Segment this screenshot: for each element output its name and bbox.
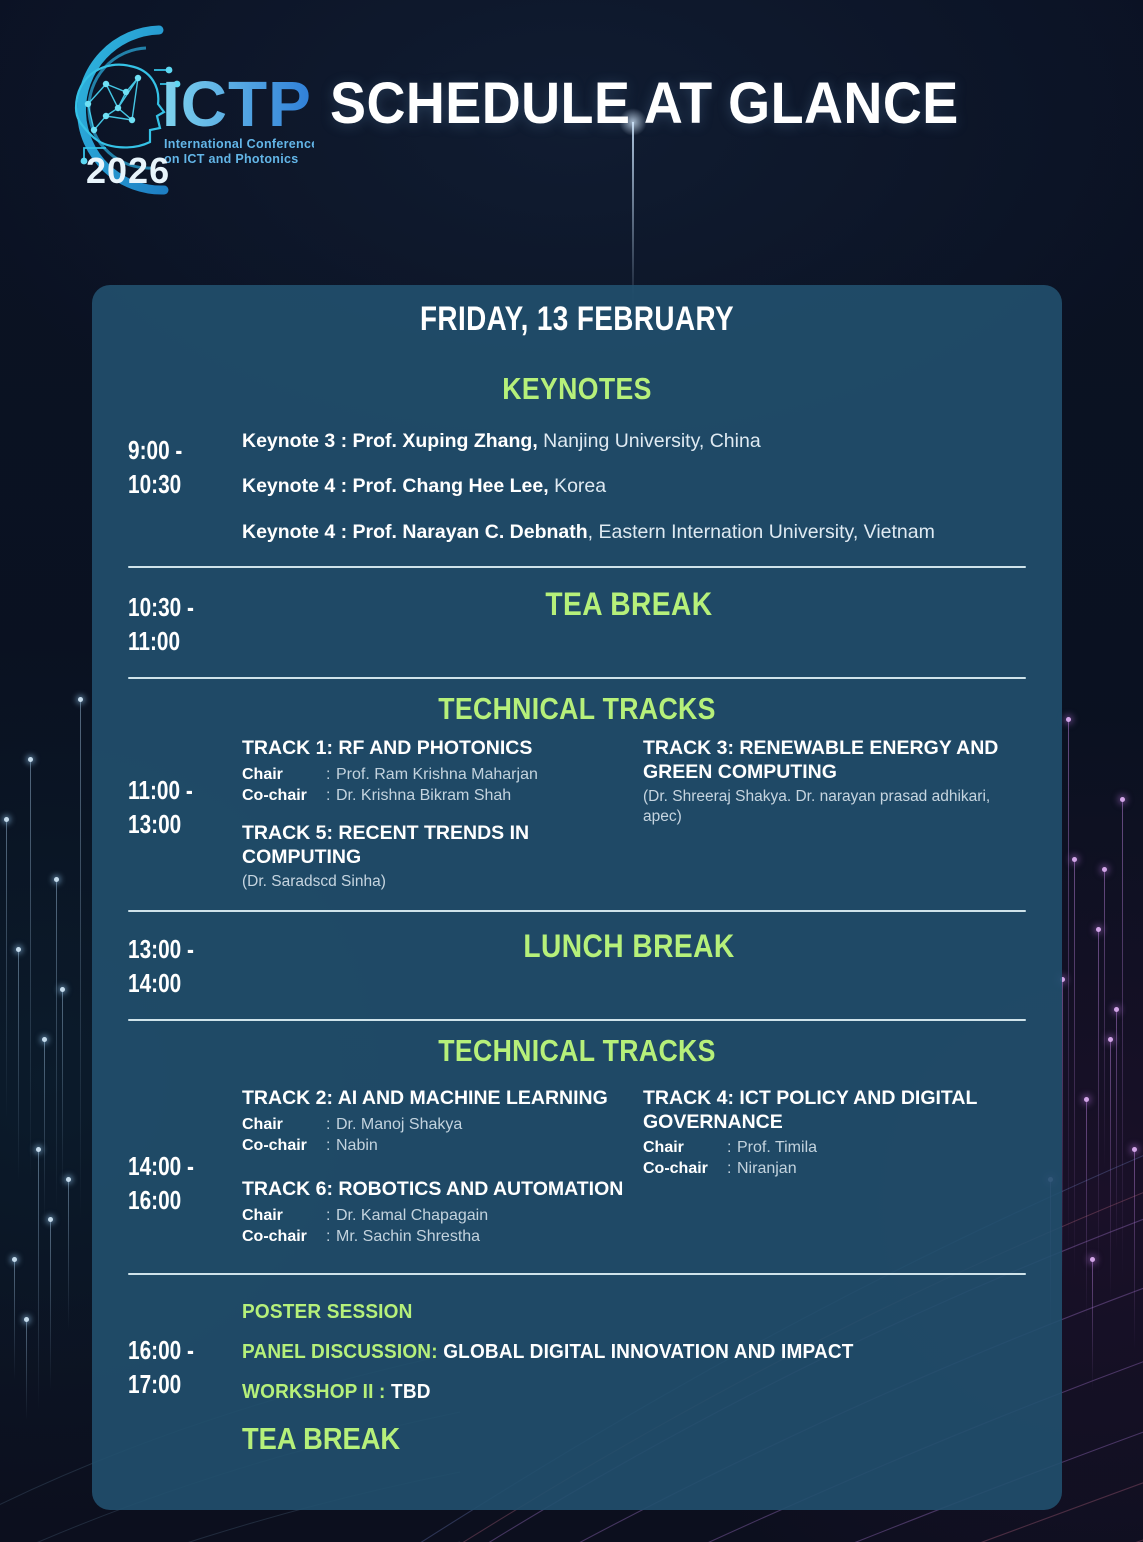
panel-discussion-line: PANEL DISCUSSION: GLOBAL DIGITAL INNOVAT… xyxy=(242,1341,987,1364)
cochair-value: Mr. Sachin Shrestha xyxy=(336,1226,480,1247)
day-title: FRIDAY, 13 FEBRUARY xyxy=(179,285,974,339)
page-header: ICTP International Conference on ICT and… xyxy=(0,0,1143,250)
cochair-line: Co-chair : Nabin xyxy=(242,1135,625,1156)
track-title: TRACK 4: ICT POLICY AND DIGITAL GOVERNAN… xyxy=(643,1087,1026,1135)
keynote-label: Keynote 4 : Prof. Chang Hee Lee, xyxy=(242,475,549,497)
schedule-card: FRIDAY, 13 FEBRUARY KEYNOTES 9:00 - 10:3… xyxy=(92,285,1062,1510)
cochair-line: Co-chair : Dr. Krishna Bikram Shah xyxy=(242,785,625,806)
chair-label: Chair xyxy=(242,1114,326,1135)
chair-label: Chair xyxy=(643,1137,727,1158)
svg-text:on ICT and Photonics: on ICT and Photonics xyxy=(164,152,298,166)
tea-break-row: 10:30 - 11:00 TEA BREAK xyxy=(92,586,1062,659)
svg-text:2026: 2026 xyxy=(86,150,170,191)
track-title: TRACK 1: RF AND PHOTONICS xyxy=(242,737,625,761)
keynote-label: Keynote 4 : Prof. Narayan C. Debnath xyxy=(242,521,588,543)
track-title: TRACK 6: ROBOTICS AND AUTOMATION xyxy=(242,1178,625,1202)
track-card: TRACK 1: RF AND PHOTONICS Chair : Prof. … xyxy=(242,737,625,806)
chair-line: Chair : Prof. Timila xyxy=(643,1137,1026,1158)
cochair-label: Co-chair xyxy=(242,785,326,806)
cochair-label: Co-chair xyxy=(643,1158,727,1179)
list-item: Keynote 4 : Prof. Narayan C. Debnath, Ea… xyxy=(242,520,1026,544)
track-card: TRACK 4: ICT POLICY AND DIGITAL GOVERNAN… xyxy=(643,1087,1026,1180)
chair-value: Prof. Timila xyxy=(737,1137,817,1158)
track-title: TRACK 2: AI AND MACHINE LEARNING xyxy=(242,1087,625,1111)
cochair-value: Nabin xyxy=(336,1135,378,1156)
technical-tracks-heading-2: TECHNICAL TRACKS xyxy=(160,1033,994,1069)
track-chairs: Chair : Dr. Kamal Chapagain Co-chair : M… xyxy=(242,1205,625,1247)
colon: : xyxy=(727,1158,737,1179)
keynotes-row: 9:00 - 10:30 Keynote 3 : Prof. Xuping Zh… xyxy=(92,429,1062,544)
keynote-affiliation: , Eastern Internation University, Vietna… xyxy=(588,521,935,543)
tracks-columns: TRACK 2: AI AND MACHINE LEARNING Chair :… xyxy=(232,1087,1026,1247)
divider xyxy=(128,910,1026,912)
track-note: (Dr. Shreeraj Shakya. Dr. narayan prasad… xyxy=(643,787,1026,827)
lunch-break-label: LUNCH BREAK xyxy=(280,928,979,965)
track-card: TRACK 2: AI AND MACHINE LEARNING Chair :… xyxy=(242,1087,625,1156)
colon: : xyxy=(326,764,336,785)
list-item: Keynote 3 : Prof. Xuping Zhang, Nanjing … xyxy=(242,429,1026,453)
cochair-line: Co-chair : Mr. Sachin Shrestha xyxy=(242,1226,625,1247)
keynotes-list: Keynote 3 : Prof. Xuping Zhang, Nanjing … xyxy=(232,429,1026,544)
chair-label: Chair xyxy=(242,764,326,785)
tracks-row-morning: 11:00 - 13:00 TRACK 1: RF AND PHOTONICS … xyxy=(92,737,1062,892)
cochair-label: Co-chair xyxy=(242,1226,326,1247)
tracks-left-column: TRACK 1: RF AND PHOTONICS Chair : Prof. … xyxy=(242,737,625,892)
lunch-break-row: 13:00 - 14:00 LUNCH BREAK xyxy=(92,928,1062,1001)
page-title: SCHEDULE AT GLANCE xyxy=(330,70,959,137)
keynote-label: Keynote 3 : Prof. Xuping Zhang, xyxy=(242,430,538,452)
chair-label: Chair xyxy=(242,1205,326,1226)
keynote-affiliation: Nanjing University, China xyxy=(538,430,761,452)
tracks-morning-time: 11:00 - 13:00 xyxy=(128,737,211,842)
tracks-row-afternoon: 14:00 - 16:00 TRACK 2: AI AND MACHINE LE… xyxy=(92,1087,1062,1247)
colon: : xyxy=(727,1137,737,1158)
list-item: Keynote 4 : Prof. Chang Hee Lee, Korea xyxy=(242,474,1026,498)
workshop-value: TBD xyxy=(386,1381,431,1403)
tea-break-time: 10:30 - 11:00 xyxy=(128,586,211,659)
chair-value: Dr. Kamal Chapagain xyxy=(336,1205,488,1226)
technical-tracks-heading-1: TECHNICAL TRACKS xyxy=(160,691,994,727)
closing-time: 16:00 - 17:00 xyxy=(128,1301,211,1402)
lunch-break-time: 13:00 - 14:00 xyxy=(128,928,211,1001)
divider xyxy=(128,566,1026,568)
track-card: TRACK 3: RENEWABLE ENERGY AND GREEN COMP… xyxy=(643,737,1026,827)
track-title: TRACK 3: RENEWABLE ENERGY AND GREEN COMP… xyxy=(643,737,1026,785)
tracks-right-column: TRACK 4: ICT POLICY AND DIGITAL GOVERNAN… xyxy=(643,1087,1026,1247)
cochair-value: Niranjan xyxy=(737,1158,797,1179)
tracks-right-column: TRACK 3: RENEWABLE ENERGY AND GREEN COMP… xyxy=(643,737,1026,892)
panel-discussion-label: PANEL DISCUSSION: xyxy=(242,1341,438,1363)
track-note: (Dr. Saradscd Sinha) xyxy=(242,872,625,892)
divider xyxy=(128,1019,1026,1021)
keynotes-heading: KEYNOTES xyxy=(160,371,994,407)
cochair-line: Co-chair : Niranjan xyxy=(643,1158,1026,1179)
colon: : xyxy=(326,1135,336,1156)
tea-break-label: TEA BREAK xyxy=(280,586,979,623)
closing-row: 16:00 - 17:00 POSTER SESSION PANEL DISCU… xyxy=(92,1301,1062,1457)
workshop-line: WORKSHOP II : TBD xyxy=(242,1381,987,1404)
closing-items: POSTER SESSION PANEL DISCUSSION: GLOBAL … xyxy=(232,1301,1026,1457)
chair-value: Dr. Manoj Shakya xyxy=(336,1114,462,1135)
panel-discussion-topic: GLOBAL DIGITAL INNOVATION AND IMPACT xyxy=(438,1341,854,1363)
track-chairs: Chair : Prof. Ram Krishna Maharjan Co-ch… xyxy=(242,764,625,806)
colon: : xyxy=(326,1114,336,1135)
divider xyxy=(128,1273,1026,1275)
chair-line: Chair : Dr. Kamal Chapagain xyxy=(242,1205,625,1226)
ictp-logo: ICTP International Conference on ICT and… xyxy=(14,8,314,203)
keynotes-time: 9:00 - 10:30 xyxy=(128,429,211,502)
track-chairs: Chair : Dr. Manoj Shakya Co-chair : Nabi… xyxy=(242,1114,625,1156)
chair-line: Chair : Dr. Manoj Shakya xyxy=(242,1114,625,1135)
colon: : xyxy=(326,1205,336,1226)
poster-session-label: POSTER SESSION xyxy=(242,1301,987,1324)
chair-line: Chair : Prof. Ram Krishna Maharjan xyxy=(242,764,625,785)
keynote-affiliation: Korea xyxy=(549,475,606,497)
tracks-left-column: TRACK 2: AI AND MACHINE LEARNING Chair :… xyxy=(242,1087,625,1247)
divider xyxy=(128,677,1026,679)
closing-tea-break-label: TEA BREAK xyxy=(242,1421,932,1457)
chair-value: Prof. Ram Krishna Maharjan xyxy=(336,764,538,785)
colon: : xyxy=(326,785,336,806)
track-card: TRACK 5: RECENT TRENDS IN COMPUTING (Dr.… xyxy=(242,822,625,892)
svg-text:ICTP: ICTP xyxy=(162,68,312,140)
cochair-value: Dr. Krishna Bikram Shah xyxy=(336,785,511,806)
track-title: TRACK 5: RECENT TRENDS IN COMPUTING xyxy=(242,822,625,870)
colon: : xyxy=(326,1226,336,1247)
tracks-afternoon-time: 14:00 - 16:00 xyxy=(128,1087,211,1218)
svg-text:International Conference: International Conference xyxy=(164,137,314,151)
cochair-label: Co-chair xyxy=(242,1135,326,1156)
track-chairs: Chair : Prof. Timila Co-chair : Niranjan xyxy=(643,1137,1026,1179)
track-card: TRACK 6: ROBOTICS AND AUTOMATION Chair :… xyxy=(242,1178,625,1247)
workshop-label: WORKSHOP II : xyxy=(242,1381,386,1403)
tracks-columns: TRACK 1: RF AND PHOTONICS Chair : Prof. … xyxy=(232,737,1026,892)
